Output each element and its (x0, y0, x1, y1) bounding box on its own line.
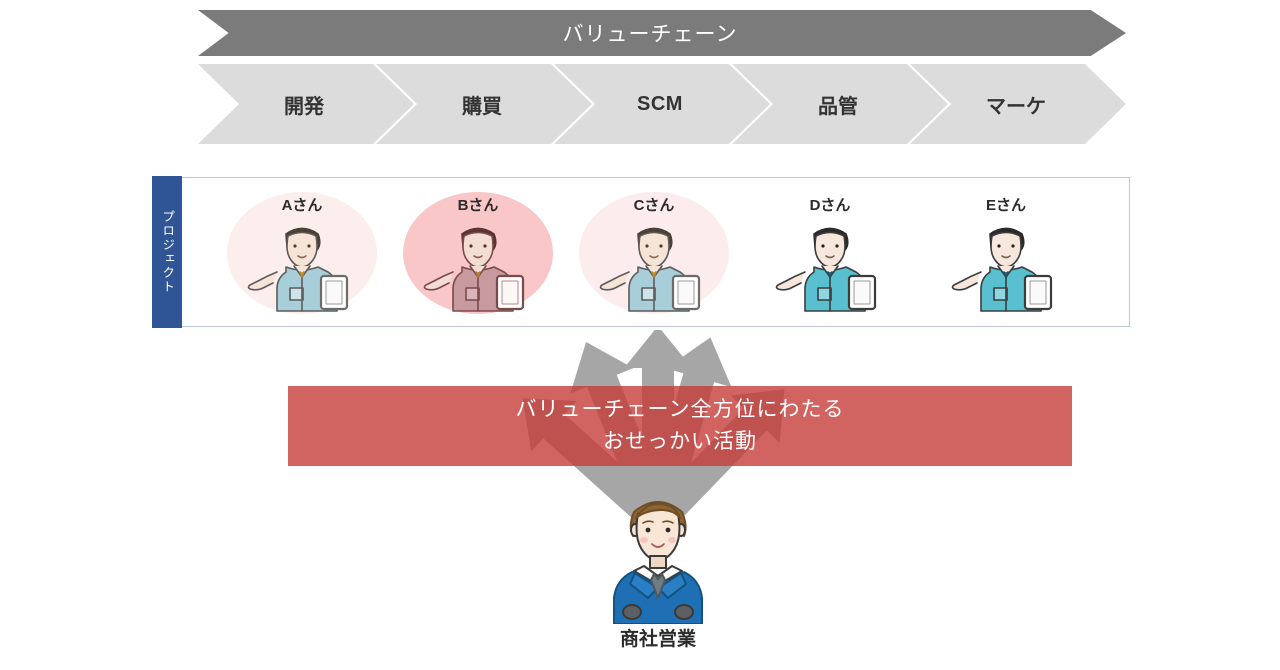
worker-icon-2 (594, 214, 714, 314)
value-chain-banner: バリューチェーン (198, 10, 1126, 56)
salesman-label: 商社営業 (548, 624, 768, 651)
worker-icon-0 (242, 214, 362, 314)
stage-label-2: SCM (637, 93, 683, 116)
member-name-4: Eさん (916, 194, 1096, 215)
value-chain-banner-label: バリューチェーン (563, 18, 738, 48)
stage-chevron-0: 開発 (198, 64, 414, 144)
worker-icon-3 (770, 214, 890, 314)
activity-banner-line2: おせっかい活動 (603, 426, 757, 458)
stage-label-1: 購買 (462, 90, 502, 119)
project-tab-label: プロジェクト (161, 210, 174, 294)
stage-label-4: マーケ (986, 90, 1046, 119)
value-chain-stages: 開発 購買 SCM 品管 マーケ (198, 64, 1126, 144)
member-1: Bさん (388, 180, 568, 326)
activity-banner-line1: バリューチェーン全方位にわたる (516, 394, 845, 426)
member-name-1: Bさん (388, 194, 568, 215)
project-tab: プロジェクト (152, 176, 182, 328)
worker-icon-4 (946, 214, 1066, 314)
salesman-icon (588, 484, 728, 624)
member-4: Eさん (916, 180, 1096, 326)
worker-icon-1 (418, 214, 538, 314)
diagram-canvas: バリューチェーン 開発 購買 SCM 品管 マーケ プロジェクト Aさん (0, 0, 1280, 670)
member-name-2: Cさん (564, 194, 744, 215)
activity-banner: バリューチェーン全方位にわたる おせっかい活動 (288, 386, 1072, 466)
member-0: Aさん (212, 180, 392, 326)
member-3: Dさん (740, 180, 920, 326)
project-members: Aさん (190, 180, 1125, 326)
member-name-3: Dさん (740, 194, 920, 215)
member-name-0: Aさん (212, 194, 392, 215)
member-2: Cさん (564, 180, 744, 326)
stage-label-0: 開発 (284, 90, 324, 119)
stage-label-3: 品管 (818, 90, 858, 119)
